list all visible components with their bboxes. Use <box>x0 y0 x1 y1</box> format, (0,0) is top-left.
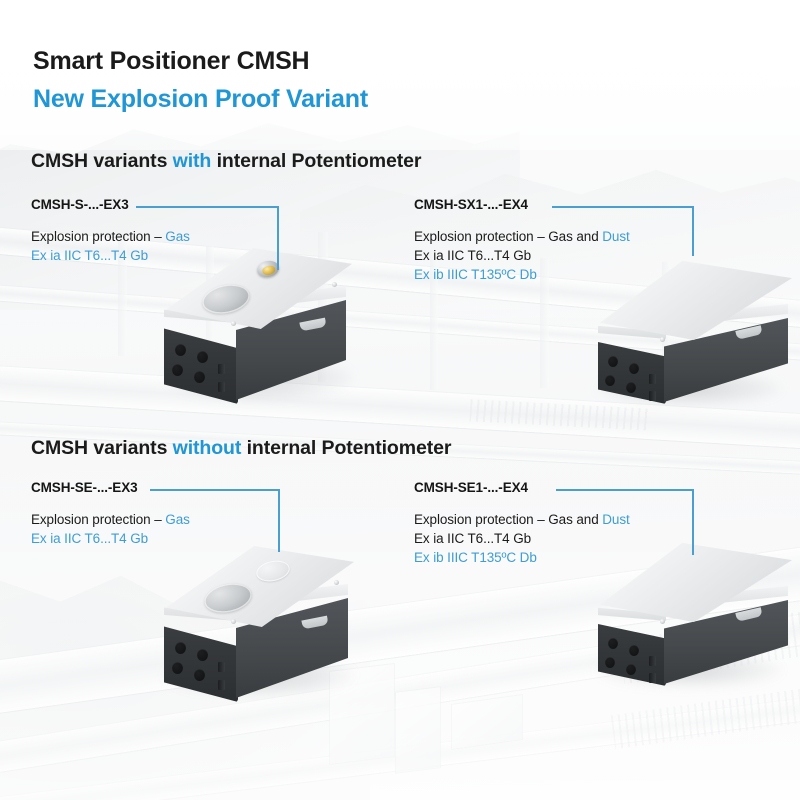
variant-code: CMSH-SE1-...-EX4 <box>414 480 630 495</box>
variant-marking-gas: Ex ia IIC T6...T4 Gb <box>414 529 630 548</box>
variant-marking-gas: Ex ia IIC T6...T4 Gb <box>414 246 630 265</box>
variant-block-cmsh-se-ex3: CMSH-SE-...-EX3 Explosion protection – G… <box>31 480 190 548</box>
variant-marking-gas: Ex ia IIC T6...T4 Gb <box>31 246 190 265</box>
variant-protection-line: Explosion protection – Gas <box>31 227 190 246</box>
variant-code: CMSH-SX1-...-EX4 <box>414 197 630 212</box>
variant-spec-list: Explosion protection – Gas Ex ia IIC T6.… <box>31 227 190 265</box>
variant-marking-dust: Ex ib IIIC T135ºC Db <box>414 548 630 567</box>
variant-protection-value: Dust <box>602 512 629 527</box>
section-heading-with-potentiometer: CMSH variants with internal Potentiomete… <box>31 150 421 173</box>
variant-spec-list: Explosion protection – Gas and Dust Ex i… <box>414 227 630 284</box>
section-heading-pre: CMSH variants <box>31 150 173 172</box>
section-heading-highlight: with <box>173 150 212 172</box>
variant-protection-label: Explosion protection – Gas and <box>414 229 602 244</box>
variant-protection-value: Dust <box>602 229 629 244</box>
variant-protection-label: Explosion protection – <box>31 229 165 244</box>
variant-block-cmsh-se1-ex4: CMSH-SE1-...-EX4 Explosion protection – … <box>414 480 630 567</box>
variant-spec-list: Explosion protection – Gas and Dust Ex i… <box>414 510 630 567</box>
section-heading-highlight: without <box>173 437 242 459</box>
section-heading-pre: CMSH variants <box>31 437 173 459</box>
leader-line-bottom-right <box>0 0 800 800</box>
variant-protection-line: Explosion protection – Gas and Dust <box>414 510 630 529</box>
variant-spec-list: Explosion protection – Gas Ex ia IIC T6.… <box>31 510 190 548</box>
variant-protection-label: Explosion protection – <box>31 512 165 527</box>
product-poster: Smart Positioner CMSH New Explosion Proo… <box>0 0 800 800</box>
variant-block-cmsh-sx1-ex4: CMSH-SX1-...-EX4 Explosion protection – … <box>414 197 630 284</box>
variant-protection-value: Gas <box>165 512 189 527</box>
section-heading-post: internal Potentiometer <box>241 437 451 459</box>
variant-protection-value: Gas <box>165 229 189 244</box>
variant-protection-label: Explosion protection – Gas and <box>414 512 602 527</box>
section-heading-without-potentiometer: CMSH variants without internal Potentiom… <box>31 437 451 460</box>
variant-code: CMSH-S-...-EX3 <box>31 197 190 212</box>
page-subtitle: New Explosion Proof Variant <box>33 85 368 114</box>
variant-marking-dust: Ex ib IIIC T135ºC Db <box>414 265 630 284</box>
variant-code: CMSH-SE-...-EX3 <box>31 480 190 495</box>
variant-block-cmsh-s-ex3: CMSH-S-...-EX3 Explosion protection – Ga… <box>31 197 190 265</box>
variant-marking-gas: Ex ia IIC T6...T4 Gb <box>31 529 190 548</box>
page-title: Smart Positioner CMSH <box>33 47 309 76</box>
variant-protection-line: Explosion protection – Gas and Dust <box>414 227 630 246</box>
variant-protection-line: Explosion protection – Gas <box>31 510 190 529</box>
section-heading-post: internal Potentiometer <box>211 150 421 172</box>
